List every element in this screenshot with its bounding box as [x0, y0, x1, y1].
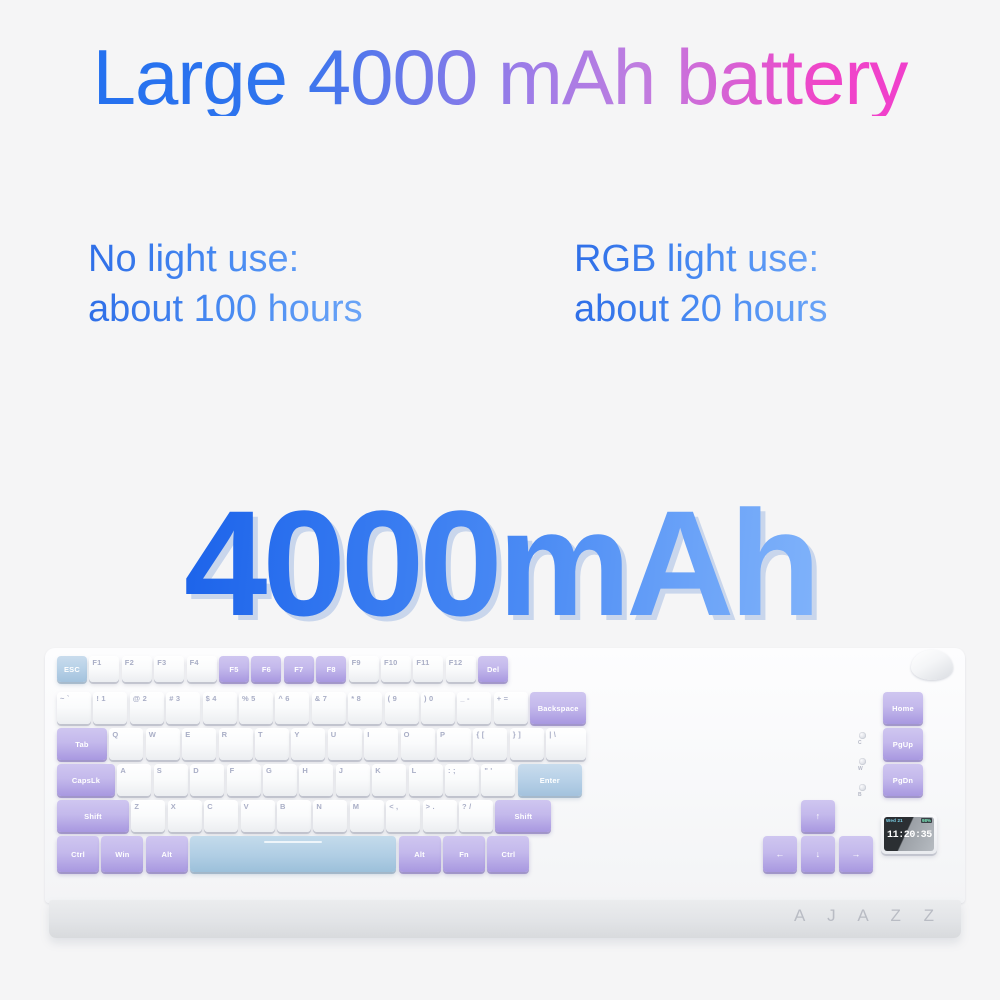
keycap-legend: F1 [92, 658, 101, 667]
key-shift[interactable]: Shift [495, 800, 551, 832]
keycap-legend: F [230, 766, 235, 775]
keycap-legend: Q [112, 730, 118, 739]
keycap-legend: | \ [549, 730, 556, 739]
keycap-legend: Backspace [538, 704, 579, 713]
keycap-legend: Enter [540, 776, 560, 785]
lcd-time: 11:20:35 [887, 830, 932, 841]
key-win[interactable]: Win [101, 836, 143, 872]
key-5[interactable]: % 5 [239, 692, 273, 724]
keyboard-product-image: ESCF1F2F3F4F5F6F7F8F9F10F11F12Del~ `! 1@… [45, 648, 965, 948]
key-9[interactable]: ( 9 [385, 692, 419, 724]
key-l[interactable]: L [409, 764, 443, 796]
keycap-legend: ESC [64, 665, 80, 674]
keycap-legend: > . [426, 802, 435, 811]
led-label-b: B [858, 792, 862, 798]
key-f1[interactable]: F1 [89, 656, 119, 682]
no-light-use-block: No light use: about 100 hours [88, 234, 363, 334]
key-z[interactable]: Z [131, 800, 165, 832]
keycap-legend: F8 [327, 665, 336, 674]
keycap-legend: ← [775, 849, 784, 859]
keycap-legend: @ 2 [133, 694, 147, 703]
lcd-date-label: Wed 21 [886, 818, 903, 823]
page-title: Large 4000 mAh battery [0, 38, 1000, 116]
key-7[interactable]: & 7 [312, 692, 346, 724]
key-alt[interactable]: Alt [399, 836, 441, 872]
keyboard-plate: ESCF1F2F3F4F5F6F7F8F9F10F11F12Del~ `! 1@… [57, 656, 953, 896]
keycap-legend: → [851, 849, 860, 859]
keycap-legend: F2 [125, 658, 134, 667]
key-del[interactable]: Del [478, 656, 508, 682]
keycap-legend: ^ 6 [278, 694, 289, 703]
keycap-legend: F7 [294, 665, 303, 674]
key-home[interactable]: Home [883, 692, 923, 724]
key-k12[interactable]: + = [494, 692, 528, 724]
keycap-legend: * 8 [351, 694, 361, 703]
key-arrow-right[interactable]: → [839, 836, 873, 872]
key-backspace[interactable]: Backspace [530, 692, 586, 724]
rgb-light-use-label: RGB light use: [574, 234, 828, 284]
key-g[interactable]: G [263, 764, 297, 796]
keycap-legend: Z [134, 802, 139, 811]
key-k10[interactable]: ? / [459, 800, 493, 832]
keycap-legend: O [404, 730, 410, 739]
keycap-legend: J [339, 766, 343, 775]
key-a[interactable]: A [117, 764, 151, 796]
keyboard-lcd-display: Wed 21 98% 11:20:35 [881, 814, 937, 854]
key-m[interactable]: M [350, 800, 384, 832]
keycap-legend: A [120, 766, 126, 775]
keycap-legend: F11 [416, 658, 429, 667]
no-light-use-label: No light use: [88, 234, 363, 284]
brand-logo: A J A Z Z [794, 906, 943, 926]
keycap-legend: ↑ [816, 811, 821, 821]
keycap-legend: F12 [449, 658, 463, 667]
keycap-legend: PgUp [893, 740, 913, 749]
knob-cap [911, 650, 953, 680]
key-k11[interactable]: { [ [473, 728, 507, 760]
key-u[interactable]: U [328, 728, 362, 760]
rgb-light-use-value: about 20 hours [574, 284, 828, 334]
keycap-legend: E [185, 730, 190, 739]
key-q[interactable]: Q [109, 728, 143, 760]
key-e[interactable]: E [182, 728, 216, 760]
key-v[interactable]: V [241, 800, 275, 832]
keycap-legend: + = [497, 694, 508, 703]
keycap-legend: Home [892, 704, 914, 713]
keycap-legend: F9 [352, 658, 361, 667]
key-0[interactable]: ) 0 [421, 692, 455, 724]
keycap-legend: F6 [262, 665, 271, 674]
keycap-legend: ↓ [816, 849, 821, 859]
key-8[interactable]: * 8 [348, 692, 382, 724]
keycap-legend: Y [294, 730, 299, 739]
key-1[interactable]: ! 1 [93, 692, 127, 724]
key-k8[interactable]: < , [386, 800, 420, 832]
key-f5[interactable]: F5 [219, 656, 249, 682]
keycap-legend: } ] [513, 730, 521, 739]
key-k[interactable]: K [372, 764, 406, 796]
keycap-legend: $ 4 [206, 694, 217, 703]
keycap-legend: ! 1 [96, 694, 105, 703]
key-f11[interactable]: F11 [413, 656, 443, 682]
key-k9[interactable]: > . [423, 800, 457, 832]
key-fn[interactable]: Fn [443, 836, 485, 872]
key-d[interactable]: D [190, 764, 224, 796]
keycap-legend: { [ [476, 730, 484, 739]
key-x[interactable]: X [168, 800, 202, 832]
key-alt[interactable]: Alt [146, 836, 188, 872]
key-k11[interactable]: " ' [481, 764, 515, 796]
key-arrow-down[interactable]: ↓ [801, 836, 835, 872]
keycap-legend: Del [487, 665, 499, 674]
key-h[interactable]: H [299, 764, 333, 796]
key-capslk[interactable]: CapsLk [57, 764, 115, 796]
key-r[interactable]: R [219, 728, 253, 760]
keycap-legend: H [302, 766, 308, 775]
key-t[interactable]: T [255, 728, 289, 760]
keycap-legend: _ - [460, 694, 469, 703]
key-k13[interactable]: | \ [546, 728, 586, 760]
key-f4[interactable]: F4 [187, 656, 217, 682]
key-f6[interactable]: F6 [251, 656, 281, 682]
keycap-legend: S [157, 766, 162, 775]
key-f7[interactable]: F7 [284, 656, 314, 682]
no-light-use-value: about 100 hours [88, 284, 363, 334]
keycap-legend: G [266, 766, 272, 775]
key-s[interactable]: S [154, 764, 188, 796]
volume-knob[interactable] [911, 650, 953, 692]
keycap-legend: ( 9 [388, 694, 397, 703]
key-f10[interactable]: F10 [381, 656, 411, 682]
key-4[interactable]: $ 4 [203, 692, 237, 724]
keycap-legend: Shift [84, 812, 102, 821]
key-f2[interactable]: F2 [122, 656, 152, 682]
key-arrow-up[interactable]: ↑ [801, 800, 835, 832]
keycap-legend: U [331, 730, 337, 739]
key-i[interactable]: I [364, 728, 398, 760]
key-tab[interactable]: Tab [57, 728, 107, 760]
key-y[interactable]: Y [291, 728, 325, 760]
keycap-legend: CapsLk [72, 776, 100, 785]
keycap-legend: X [171, 802, 176, 811]
keycap-legend: C [207, 802, 213, 811]
keycap-legend: Tab [75, 740, 88, 749]
keycap-legend: W [149, 730, 156, 739]
key-f12[interactable]: F12 [446, 656, 476, 682]
keycap-legend: Shift [515, 812, 533, 821]
led-indicator-b [859, 784, 866, 791]
key-f8[interactable]: F8 [316, 656, 346, 682]
key-3[interactable]: # 3 [166, 692, 200, 724]
battery-capacity-text: 4000mAh [184, 488, 816, 638]
key-k10[interactable]: : ; [445, 764, 479, 796]
key-o[interactable]: O [401, 728, 435, 760]
key-j[interactable]: J [336, 764, 370, 796]
indicator-led-group: CWB [857, 732, 869, 806]
key-space[interactable] [190, 836, 396, 872]
keycap-legend: F3 [157, 658, 166, 667]
keycap-legend: Alt [414, 850, 425, 859]
keycap-legend: : ; [448, 766, 456, 775]
led-indicator-c [859, 732, 866, 739]
keycap-legend: Ctrl [502, 850, 516, 859]
keycap-legend: Ctrl [71, 850, 85, 859]
key-pgup[interactable]: PgUp [883, 728, 923, 760]
keycap-legend: B [280, 802, 286, 811]
key-f[interactable]: F [227, 764, 261, 796]
key-enter[interactable]: Enter [518, 764, 582, 796]
keycap-legend: R [222, 730, 228, 739]
keycap-legend: D [193, 766, 199, 775]
keycap-legend: L [412, 766, 417, 775]
key-f3[interactable]: F3 [154, 656, 184, 682]
key-pgdn[interactable]: PgDn [883, 764, 923, 796]
keycap-legend: K [375, 766, 381, 775]
led-label-c: C [858, 740, 862, 746]
led-label-w: W [858, 766, 863, 772]
lcd-screen: Wed 21 98% 11:20:35 [884, 817, 934, 851]
keycap-legend: F10 [384, 658, 398, 667]
keycap-legend: ~ ` [60, 694, 70, 703]
spacebar-marking [264, 841, 322, 843]
keycap-legend: F4 [190, 658, 199, 667]
key-k11[interactable]: _ - [457, 692, 491, 724]
key-2[interactable]: @ 2 [130, 692, 164, 724]
keycap-legend: Alt [161, 850, 172, 859]
key-b[interactable]: B [277, 800, 311, 832]
keycap-legend: % 5 [242, 694, 256, 703]
key-k12[interactable]: } ] [510, 728, 544, 760]
key-f9[interactable]: F9 [349, 656, 379, 682]
key-shift[interactable]: Shift [57, 800, 129, 832]
keycap-legend: Fn [459, 850, 469, 859]
keyboard-case: ESCF1F2F3F4F5F6F7F8F9F10F11F12Del~ `! 1@… [45, 648, 965, 903]
keycap-legend: F5 [229, 665, 238, 674]
key-ctrl[interactable]: Ctrl [487, 836, 529, 872]
key-ctrl[interactable]: Ctrl [57, 836, 99, 872]
keycap-legend: PgDn [893, 776, 913, 785]
keycap-legend: T [258, 730, 263, 739]
keycap-legend: & 7 [315, 694, 327, 703]
key-k0[interactable]: ~ ` [57, 692, 91, 724]
keycap-legend: ? / [462, 802, 471, 811]
led-indicator-w [859, 758, 866, 765]
keycap-legend: I [367, 730, 369, 739]
rgb-light-use-block: RGB light use: about 20 hours [574, 234, 828, 334]
keycap-legend: Win [115, 850, 129, 859]
keycap-legend: # 3 [169, 694, 180, 703]
keycap-legend: P [440, 730, 445, 739]
keycap-legend: < , [389, 802, 398, 811]
key-n[interactable]: N [313, 800, 347, 832]
keycap-legend: N [316, 802, 322, 811]
keycap-legend: V [244, 802, 249, 811]
key-6[interactable]: ^ 6 [275, 692, 309, 724]
battery-capacity-headline: 4000mAh 4000mAh [0, 488, 1000, 638]
key-esc[interactable]: ESC [57, 656, 87, 682]
keycap-legend: " ' [484, 766, 492, 775]
key-c[interactable]: C [204, 800, 238, 832]
key-arrow-left[interactable]: ← [763, 836, 797, 872]
page-root: Large 4000 mAh battery No light use: abo… [0, 0, 1000, 1000]
key-w[interactable]: W [146, 728, 180, 760]
keycap-legend: M [353, 802, 359, 811]
lcd-battery-label: 98% [921, 818, 932, 823]
key-p[interactable]: P [437, 728, 471, 760]
keycap-legend: ) 0 [424, 694, 433, 703]
